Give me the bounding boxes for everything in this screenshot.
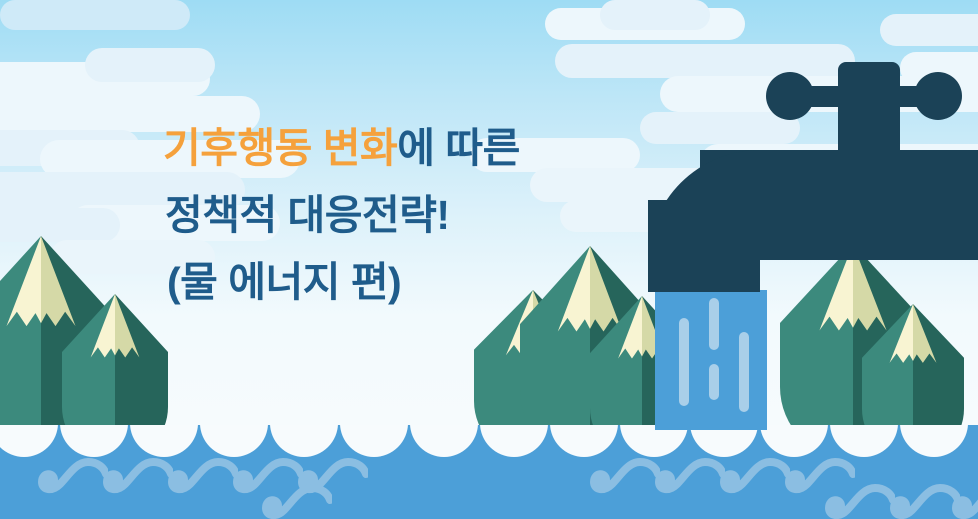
headline-block: 기후행동 변화에 따른 정책적 대응전략! (물 에너지 편) bbox=[163, 128, 723, 303]
banner-canvas: 기후행동 변화에 따른 정책적 대응전략! (물 에너지 편) bbox=[0, 0, 978, 519]
stream-highlight-line bbox=[709, 364, 719, 400]
headline-line-2: 정책적 대응전략! bbox=[165, 195, 723, 236]
headline-line-1: 기후행동 변화에 따른 bbox=[163, 128, 723, 169]
headline-line-1-segment-3: 에 따른 bbox=[397, 125, 520, 171]
headline-line-3-text: (물 에너지 편) bbox=[167, 259, 401, 305]
headline-line-2-text: 정책적 대응전략! bbox=[165, 192, 450, 238]
headline-line-1-segment-2: 변화 bbox=[323, 125, 397, 171]
stream-highlight-line bbox=[739, 332, 749, 412]
stream-highlight-line bbox=[709, 298, 719, 350]
headline-line-1-segment-1: 기후행동 bbox=[163, 125, 323, 171]
headline-line-3: (물 에너지 편) bbox=[167, 262, 723, 303]
stream-highlight-line bbox=[679, 318, 689, 406]
